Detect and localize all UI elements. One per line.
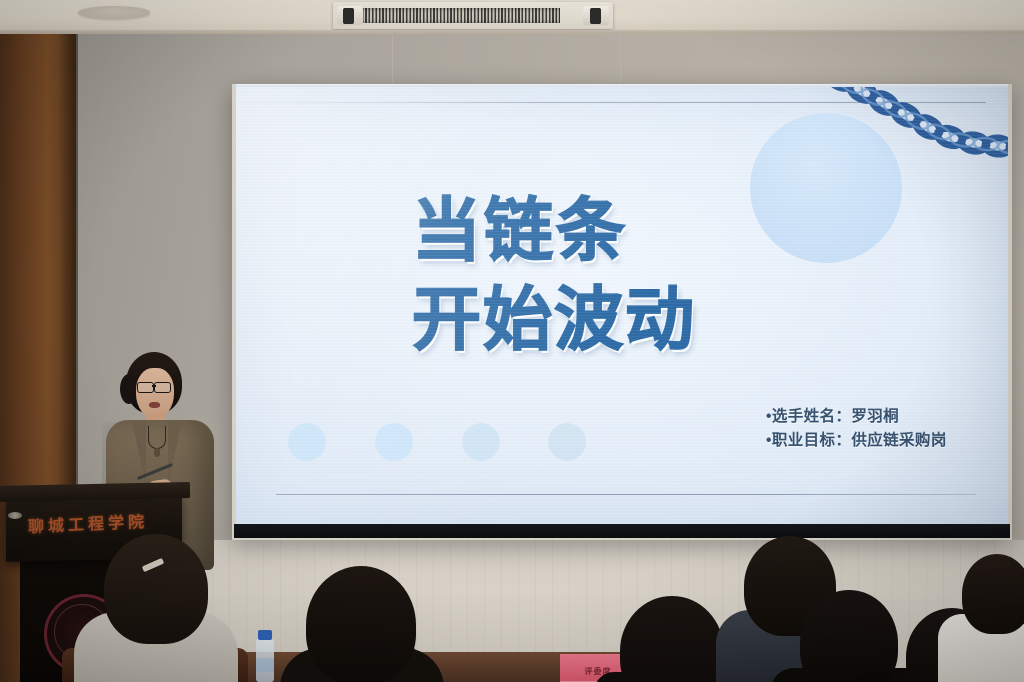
blazer-lapel-right <box>168 422 182 484</box>
glasses-icon-right <box>154 382 171 393</box>
glasses-icon-left <box>137 382 154 393</box>
water-bottle-cap <box>258 630 272 640</box>
presentation-room-photo: 当链条 开始波动 •选手姓名：罗羽桐 •职业目标：供应链采购岗 <box>0 0 1024 682</box>
podium-indicator-light <box>8 512 22 519</box>
presenter-mouth <box>149 402 160 408</box>
ac-grille-icon <box>355 8 560 23</box>
slide-bullet-2: •职业目标：供应链采购岗 <box>766 429 1004 453</box>
ac-vent-damper-left <box>343 8 354 24</box>
decorative-dot-1 <box>288 423 326 461</box>
slide-title: 当链条 开始波动 <box>412 197 882 355</box>
audience-head-2 <box>306 566 416 682</box>
slide-bottom-rule <box>276 494 976 495</box>
decorative-dot-2 <box>375 423 413 461</box>
glasses-bridge <box>152 385 156 387</box>
audience-head-1 <box>104 534 208 644</box>
projection-screen: 当链条 开始波动 •选手姓名：罗羽桐 •职业目标：供应链采购岗 <box>236 87 1008 525</box>
slide-title-line-2: 开始波动 <box>412 286 882 355</box>
slide-bullet-1: •选手姓名：罗羽桐 <box>766 405 1004 429</box>
presenter-face <box>136 368 174 418</box>
decorative-dot-3 <box>462 423 500 461</box>
slide-bullet-list: •选手姓名：罗羽桐 •职业目标：供应链采购岗 <box>766 405 1004 453</box>
necklace <box>148 426 166 449</box>
water-bottle-label <box>256 658 274 672</box>
decorative-dot-4 <box>548 423 586 461</box>
ac-vent-damper-right <box>590 8 601 24</box>
chain-icon <box>826 87 1008 211</box>
projection-screen-bottom-bezel <box>234 524 1010 538</box>
slide-title-line-1: 当链条 <box>412 197 882 266</box>
ceiling-light-icon <box>78 6 150 19</box>
audience-head-7 <box>962 554 1024 634</box>
necklace-pendant <box>154 448 160 457</box>
